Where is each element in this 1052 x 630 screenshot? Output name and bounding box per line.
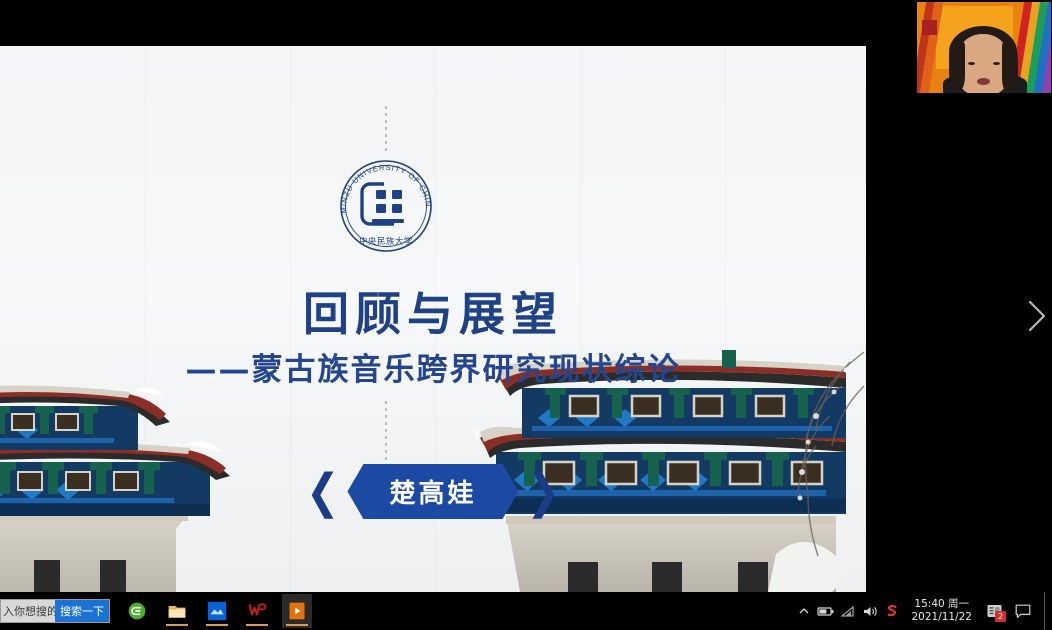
- app-running-indicator: [166, 624, 188, 626]
- battery-icon[interactable]: [815, 592, 837, 630]
- presenter-hair-left: [949, 42, 965, 90]
- page-subtitle: ——蒙古族音乐跨界研究现状综论: [0, 344, 866, 389]
- page-title: 回顾与展望: [0, 278, 866, 344]
- chevron-right-icon: ❯: [527, 468, 561, 515]
- presenter-row: ❮ 楚高娃 ❯: [0, 464, 866, 519]
- presenter-eye-right: [993, 62, 1000, 65]
- app-running-indicator: [246, 624, 268, 626]
- blue-app-icon[interactable]: [202, 594, 232, 628]
- messenger-icon[interactable]: 2: [980, 592, 1008, 630]
- svg-text:中央民族大学: 中央民族大学: [359, 236, 413, 246]
- presenter-mouth: [977, 78, 990, 85]
- browser-icon-glyph: [127, 601, 147, 621]
- screen: MINZU UNIVERSITY OF CHINA 中央民族大学 回顾与展望 —…: [0, 0, 1052, 630]
- taskbar: 入你想搜的 搜索一下: [0, 592, 1052, 630]
- minzu-university-logo: MINZU UNIVERSITY OF CHINA 中央民族大学: [336, 156, 436, 256]
- show-desktop-button[interactable]: [1044, 592, 1052, 630]
- show-hidden-icons-chevron[interactable]: [793, 592, 815, 630]
- chevron-left-icon: ❮: [306, 468, 340, 515]
- search-input[interactable]: 入你想搜的: [1, 600, 55, 622]
- search-button[interactable]: 搜索一下: [55, 600, 109, 622]
- clock-date: 2021/11/22: [911, 611, 972, 624]
- next-slide-button[interactable]: [1022, 296, 1050, 336]
- volume-icon[interactable]: [859, 592, 881, 630]
- app-running-indicator: [206, 624, 228, 626]
- decorative-dotted-line: [385, 401, 387, 463]
- poster-logo: [922, 20, 937, 35]
- taskbar-search-box[interactable]: 入你想搜的 搜索一下: [0, 599, 110, 623]
- blue-app-icon-glyph: [207, 601, 227, 621]
- presentation-icon[interactable]: [282, 594, 312, 628]
- file-explorer-icon[interactable]: [162, 594, 192, 628]
- decorative-dotted-line: [385, 106, 387, 152]
- presenter-video-thumbnail[interactable]: [917, 2, 1051, 93]
- notification-badge: 2: [995, 611, 1006, 622]
- presenter-eye-left: [968, 62, 975, 65]
- app-running-indicator: [286, 624, 308, 626]
- sogou-input-icon[interactable]: [881, 592, 903, 630]
- presentation-slide[interactable]: MINZU UNIVERSITY OF CHINA 中央民族大学 回顾与展望 —…: [0, 46, 866, 592]
- clock-time: 15:40 周一: [911, 598, 972, 611]
- wifi-icon[interactable]: [837, 592, 859, 630]
- system-tray: 15:40 周一 2021/11/22 2: [793, 592, 1052, 630]
- wps-office-icon[interactable]: [242, 594, 272, 628]
- wps-office-icon-glyph: [247, 601, 267, 621]
- presentation-icon-glyph: [287, 601, 307, 621]
- action-center-icon[interactable]: [1008, 592, 1038, 630]
- taskbar-app-icons: [122, 594, 312, 628]
- taskbar-clock[interactable]: 15:40 周一 2021/11/22: [903, 598, 980, 624]
- browser-icon[interactable]: [122, 594, 152, 628]
- presenter-name-badge: 楚高娃: [347, 464, 518, 519]
- file-explorer-icon-glyph: [167, 601, 187, 621]
- presenter-hair-right: [1002, 42, 1018, 92]
